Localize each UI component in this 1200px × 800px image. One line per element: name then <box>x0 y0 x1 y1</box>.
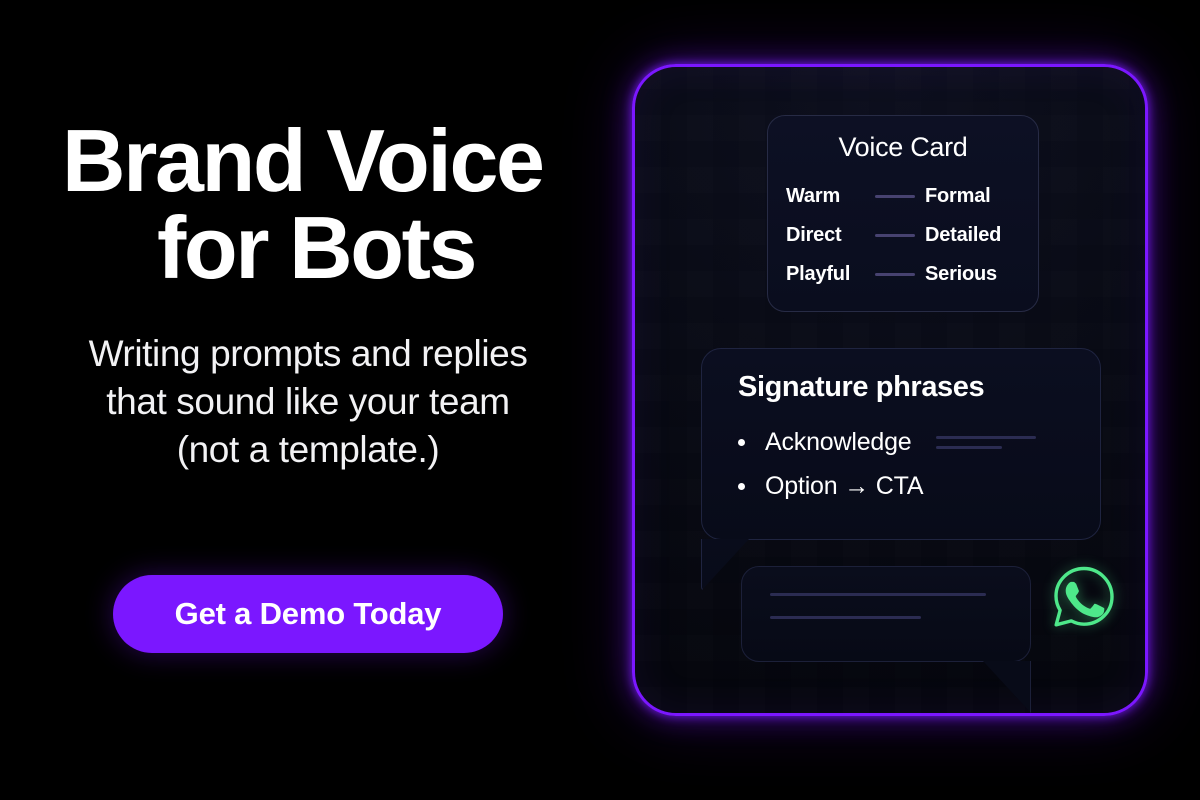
hero-section: Brand Voicefor Bots Writing prompts and … <box>0 0 612 800</box>
promo-banner: Brand Voicefor Bots Writing prompts and … <box>0 0 1200 800</box>
trait-right-label: Detailed <box>925 224 1020 247</box>
device-frame: Voice Card Warm Formal Direct Detailed P… <box>632 64 1148 716</box>
headline-line-2: for Bots <box>62 204 592 291</box>
voice-trait-row[interactable]: Warm Formal <box>786 177 1020 216</box>
phrase-label: Option → CTA <box>765 472 923 501</box>
placeholder-line <box>770 593 986 596</box>
voice-trait-row[interactable]: Playful Serious <box>786 255 1020 294</box>
voice-card-panel: Voice Card Warm Formal Direct Detailed P… <box>767 115 1039 312</box>
voice-card-title: Voice Card <box>768 132 1038 163</box>
get-a-demo-button[interactable]: Get a Demo Today <box>113 575 503 653</box>
trait-slider-track[interactable] <box>875 273 915 276</box>
reply-placeholder-lines <box>770 593 1030 619</box>
list-item: Option → CTA <box>738 464 1100 508</box>
trait-left-label: Playful <box>786 263 865 286</box>
list-item: Acknowledge <box>738 420 1100 464</box>
trait-slider-track[interactable] <box>875 195 915 198</box>
placeholder-line <box>936 436 1036 439</box>
trait-right-label: Formal <box>925 185 1020 208</box>
bullet-icon <box>738 483 745 490</box>
subtitle-line-1: Writing prompts and replies <box>30 330 586 378</box>
signature-phrases-bubble: Signature phrases Acknowledge Option → C… <box>701 348 1101 540</box>
trait-right-label: Serious <box>925 263 1020 286</box>
trait-left-label: Direct <box>786 224 865 247</box>
reply-bubble-tail <box>983 661 1031 713</box>
whatsapp-icon <box>1048 561 1120 633</box>
signature-phrases-title: Signature phrases <box>738 371 1100 404</box>
phrase-placeholder-lines <box>936 436 1036 449</box>
voice-trait-row[interactable]: Direct Detailed <box>786 216 1020 255</box>
page-title: Brand Voicefor Bots <box>62 117 592 291</box>
placeholder-line <box>936 446 1002 449</box>
phrase-label: Acknowledge <box>765 428 912 457</box>
subtitle-line-2: that sound like your team <box>30 378 586 426</box>
bullet-icon <box>738 439 745 446</box>
reply-bubble <box>741 566 1031 662</box>
subtitle-line-3: (not a template.) <box>30 426 586 474</box>
trait-left-label: Warm <box>786 185 865 208</box>
placeholder-line <box>770 616 921 619</box>
trait-slider-track[interactable] <box>875 234 915 237</box>
voice-trait-list: Warm Formal Direct Detailed Playful Seri… <box>768 177 1038 294</box>
hero-subtitle: Writing prompts and replies that sound l… <box>30 330 586 474</box>
headline-line-1: Brand Voice <box>62 111 543 210</box>
signature-phrase-list: Acknowledge Option → CTA <box>738 420 1100 508</box>
